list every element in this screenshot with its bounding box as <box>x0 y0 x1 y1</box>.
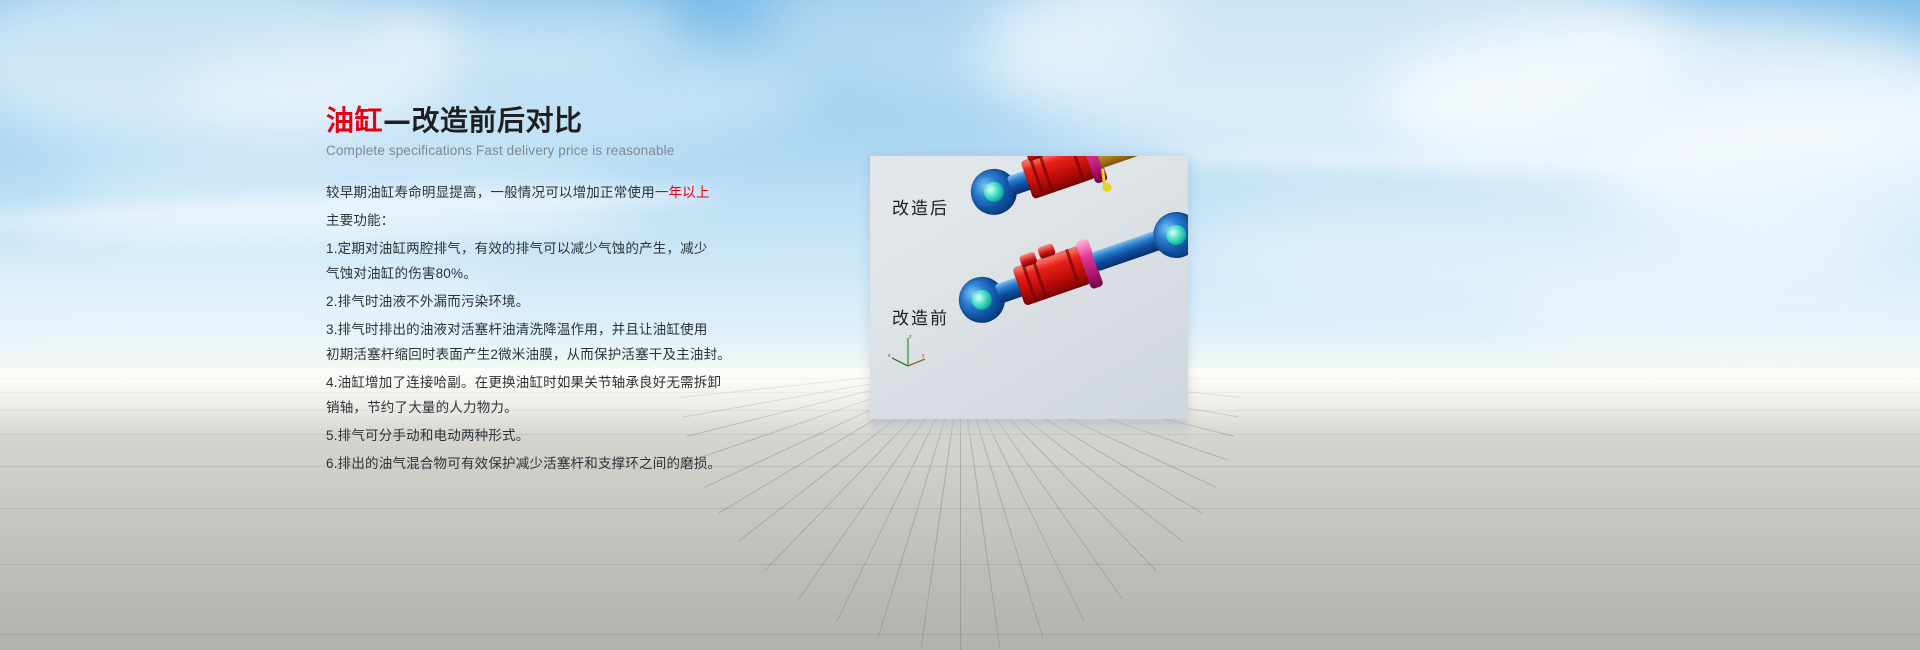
page-subtitle: Complete specifications Fast delivery pr… <box>326 143 746 158</box>
feature-item-cont: 初期活塞杆缩回时表面产生2微米油膜，从而保护活塞干及主油封。 <box>326 344 746 365</box>
feature-item-cont: 气蚀对油缸的伤害80%。 <box>326 263 746 284</box>
page-title-rest: —改造前后对比 <box>383 104 583 137</box>
cylinder-barrel <box>1020 156 1095 199</box>
page-title-highlight: 油缸 <box>326 104 383 137</box>
cloud-shape <box>1180 190 1880 300</box>
feature-text-block: 较早期油缸寿命明显提高，一般情况可以增加正常使用一年以上 主要功能： 1.定期对… <box>326 182 746 474</box>
label-before-modification: 改造前 <box>892 304 949 329</box>
page-title: 油缸—改造前后对比 <box>326 106 746 137</box>
intro-text: 较早期油缸寿命明显提高，一般情况可以增加正常使用 <box>326 185 655 200</box>
feature-item: 3.排气时排出的油液对活塞杆油清洗降温作用，并且让油缸使用 <box>326 319 746 340</box>
feature-item: 2.排气时油液不外漏而污染环境。 <box>326 291 746 312</box>
feature-item: 4.油缸增加了连接哈副。在更换油缸时如果关节轴承良好无需拆卸 <box>326 372 746 393</box>
axis-triad-icon: z x y <box>888 332 928 370</box>
intro-highlight: 一年以上 <box>655 185 710 200</box>
svg-text:z: z <box>909 334 912 340</box>
cloud-shape <box>380 0 680 70</box>
svg-text:x: x <box>888 353 891 359</box>
feature-item: 6.排出的油气混合物可有效保护减少活塞杆和支撑环之间的磨损。 <box>326 453 746 474</box>
feature-item: 5.排气可分手动和电动两种形式。 <box>326 425 746 446</box>
feature-item: 1.定期对油缸两腔排气，有效的排气可以减少气蚀的产生，减少 <box>326 238 746 259</box>
cloud-shape <box>760 0 1180 100</box>
banner-stage: 油缸—改造前后对比 Complete specifications Fast d… <box>0 0 1920 650</box>
banner-copy: 油缸—改造前后对比 Complete specifications Fast d… <box>326 106 746 481</box>
gold-valve-block <box>1092 156 1147 168</box>
label-after-modification: 改造后 <box>892 194 949 219</box>
product-image-card[interactable]: 改造后 改造前 z x y <box>870 156 1188 419</box>
vent-hose-end <box>1101 182 1112 193</box>
lead-in-text: 主要功能： <box>326 210 746 231</box>
product-image-reflection <box>870 419 1188 445</box>
cloud-shape <box>1500 250 1920 370</box>
svg-text:y: y <box>922 353 925 359</box>
cloud-shape <box>1600 90 1920 250</box>
cloud-shape <box>980 0 1680 170</box>
cloud-streak <box>1150 145 1670 174</box>
feature-item-cont: 销轴，节约了大量的人力物力。 <box>326 397 746 418</box>
rod-eye-right <box>1147 206 1188 264</box>
intro-paragraph: 较早期油缸寿命明显提高，一般情况可以增加正常使用一年以上 <box>326 182 746 203</box>
